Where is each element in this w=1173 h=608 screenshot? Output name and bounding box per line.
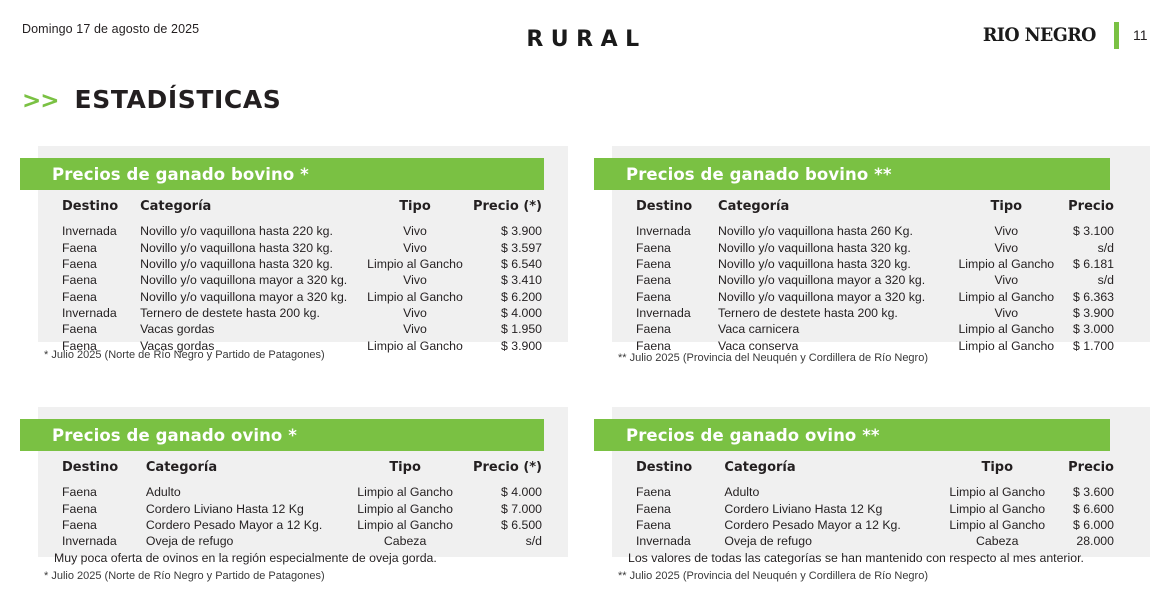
column-header-precio: Precio (*): [460, 457, 562, 484]
cell-categoria: Novillo y/o vaquillona hasta 320 kg.: [124, 239, 364, 255]
cell-categoria: Cordero Pesado Mayor a 12 Kg.: [708, 517, 939, 533]
cell-tipo: Cabeza: [940, 533, 1055, 549]
column-header-destino: Destino: [38, 457, 130, 484]
cell-categoria: Ternero de destete hasta 200 kg.: [702, 305, 953, 321]
cell-precio: $ 6.000: [1055, 517, 1134, 533]
cell-destino: Faena: [612, 272, 702, 288]
table-row: FaenaNovillo y/o vaquillona hasta 320 kg…: [38, 256, 562, 272]
table-title-bar-ovino-1: Precios de ganado ovino *: [20, 419, 544, 451]
cell-tipo: Limpio al Gancho: [364, 256, 467, 272]
column-header-tipo: Tipo: [364, 196, 467, 223]
cell-tipo: Limpio al Gancho: [364, 289, 467, 305]
cell-destino: Faena: [612, 239, 702, 255]
cell-categoria: Novillo y/o vaquillona hasta 260 Kg.: [702, 223, 953, 239]
table-row: FaenaNovillo y/o vaquillona hasta 320 kg…: [38, 239, 562, 255]
table-note: Muy poca oferta de ovinos en la región e…: [38, 550, 562, 566]
table-row: FaenaNovillo y/o vaquillona mayor a 320 …: [38, 272, 562, 288]
table-header-row: DestinoCategoríaTipoPrecio: [612, 196, 1134, 223]
column-header-categoria: Categoría: [130, 457, 350, 484]
table-row: InvernadaOveja de refugoCabezas/d: [38, 533, 562, 549]
cell-tipo: Vivo: [364, 272, 467, 288]
cell-destino: Invernada: [38, 305, 124, 321]
cell-destino: Faena: [612, 500, 708, 516]
cell-categoria: Vaca carnicera: [702, 321, 953, 337]
cell-categoria: Oveja de refugo: [708, 533, 939, 549]
brand-block: RIO NEGRO 11: [973, 20, 1153, 50]
cell-destino: Faena: [38, 289, 124, 305]
column-header-precio: Precio (*): [466, 196, 562, 223]
cell-precio: $ 3.900: [466, 223, 562, 239]
table-row: FaenaAdultoLimpio al Gancho$ 4.000: [38, 484, 562, 500]
cell-precio: s/d: [460, 533, 562, 549]
table-row: FaenaVaca carniceraLimpio al Gancho$ 3.0…: [612, 321, 1134, 337]
cell-tipo: Limpio al Gancho: [953, 338, 1060, 354]
cell-destino: Faena: [612, 321, 702, 337]
cell-categoria: Novillo y/o vaquillona hasta 320 kg.: [124, 256, 364, 272]
cell-categoria: Ternero de destete hasta 200 kg.: [124, 305, 364, 321]
table-row: FaenaNovillo y/o vaquillona hasta 320 kg…: [612, 256, 1134, 272]
cell-tipo: Vivo: [364, 223, 467, 239]
cell-categoria: Novillo y/o vaquillona mayor a 320 kg.: [702, 272, 953, 288]
cell-tipo: Limpio al Gancho: [940, 517, 1055, 533]
cell-destino: Faena: [612, 484, 708, 500]
cell-categoria: Novillo y/o vaquillona mayor a 320 kg.: [702, 289, 953, 305]
cell-tipo: Vivo: [953, 305, 1060, 321]
cell-categoria: Adulto: [130, 484, 350, 500]
table-row: InvernadaTernero de destete hasta 200 kg…: [38, 305, 562, 321]
table-title-ovino-2: Precios de ganado ovino **: [594, 426, 880, 445]
cell-precio: s/d: [1060, 239, 1134, 255]
page-header: Domingo 17 de agosto de 2025 RURAL RIO N…: [0, 0, 1173, 66]
table-title-ovino-1: Precios de ganado ovino *: [20, 426, 297, 445]
cell-categoria: Novillo y/o vaquillona mayor a 320 kg.: [124, 289, 364, 305]
cell-destino: Faena: [612, 256, 702, 272]
table-footnote-ovino-1: * Julio 2025 (Norte de Río Negro y Parti…: [44, 570, 325, 582]
cell-tipo: Vivo: [953, 272, 1060, 288]
cell-categoria: Cordero Liviano Hasta 12 Kg: [708, 500, 939, 516]
table-title-bovino-1: Precios de ganado bovino *: [20, 165, 309, 184]
column-header-categoria: Categoría: [702, 196, 953, 223]
cell-precio: $ 6.600: [1055, 500, 1134, 516]
column-header-precio: Precio: [1055, 457, 1134, 484]
cell-tipo: Limpio al Gancho: [940, 500, 1055, 516]
table-title-bar-ovino-2: Precios de ganado ovino **: [594, 419, 1110, 451]
column-header-destino: Destino: [612, 457, 708, 484]
cell-precio: $ 6.540: [466, 256, 562, 272]
table-footnote-bovino-2: ** Julio 2025 (Provincia del Neuquén y C…: [618, 352, 928, 364]
cell-destino: Faena: [38, 500, 130, 516]
column-header-tipo: Tipo: [350, 457, 460, 484]
table-note-row: Muy poca oferta de ovinos en la región e…: [38, 550, 562, 566]
cell-tipo: Vivo: [953, 223, 1060, 239]
cell-precio: $ 3.900: [466, 338, 562, 354]
column-header-categoria: Categoría: [124, 196, 364, 223]
page-number: 11: [1133, 27, 1153, 43]
brand-logo: RIO NEGRO: [983, 24, 1096, 46]
column-header-precio: Precio: [1060, 196, 1134, 223]
price-table-bovino-1: DestinoCategoríaTipoPrecio (*)InvernadaN…: [38, 196, 562, 354]
cell-categoria: Oveja de refugo: [130, 533, 350, 549]
cell-tipo: Limpio al Gancho: [350, 484, 460, 500]
column-header-tipo: Tipo: [940, 457, 1055, 484]
cell-destino: Faena: [38, 517, 130, 533]
cell-precio: $ 3.597: [466, 239, 562, 255]
cell-precio: 28.000: [1055, 533, 1134, 549]
cell-categoria: Novillo y/o vaquillona hasta 220 kg.: [124, 223, 364, 239]
cell-tipo: Vivo: [364, 239, 467, 255]
table-row: FaenaCordero Pesado Mayor a 12 Kg.Limpio…: [38, 517, 562, 533]
table-row: FaenaCordero Pesado Mayor a 12 Kg.Limpio…: [612, 517, 1134, 533]
page-title: ESTADÍSTICAS: [75, 85, 282, 114]
cell-tipo: Limpio al Gancho: [350, 517, 460, 533]
cell-destino: Faena: [38, 321, 124, 337]
brand-divider-rule: [1114, 22, 1119, 49]
cell-precio: $ 1.950: [466, 321, 562, 337]
cell-categoria: Novillo y/o vaquillona hasta 320 kg.: [702, 256, 953, 272]
cell-precio: $ 3.600: [1055, 484, 1134, 500]
double-chevron-icon: >>: [22, 88, 59, 114]
cell-destino: Faena: [612, 289, 702, 305]
table-row: InvernadaNovillo y/o vaquillona hasta 26…: [612, 223, 1134, 239]
cell-destino: Invernada: [612, 305, 702, 321]
cell-precio: $ 4.000: [466, 305, 562, 321]
table-title-bar-bovino-2: Precios de ganado bovino **: [594, 158, 1110, 190]
cell-precio: s/d: [1060, 272, 1134, 288]
cell-tipo: Vivo: [364, 305, 467, 321]
cell-tipo: Limpio al Gancho: [350, 500, 460, 516]
table-row: InvernadaTernero de destete hasta 200 kg…: [612, 305, 1134, 321]
cell-destino: Faena: [38, 239, 124, 255]
cell-precio: $ 3.100: [1060, 223, 1134, 239]
cell-destino: Faena: [38, 272, 124, 288]
cell-tipo: Limpio al Gancho: [953, 321, 1060, 337]
cell-precio: $ 7.000: [460, 500, 562, 516]
cell-precio: $ 3.900: [1060, 305, 1134, 321]
table-footnote-ovino-2: ** Julio 2025 (Provincia del Neuquén y C…: [618, 570, 928, 582]
cell-tipo: Cabeza: [350, 533, 460, 549]
table-row: FaenaCordero Liviano Hasta 12 KgLimpio a…: [38, 500, 562, 516]
cell-precio: $ 6.200: [466, 289, 562, 305]
column-header-destino: Destino: [612, 196, 702, 223]
table-row: FaenaNovillo y/o vaquillona hasta 320 kg…: [612, 239, 1134, 255]
table-note-row: Los valores de todas las categorías se h…: [612, 550, 1134, 566]
column-header-tipo: Tipo: [953, 196, 1060, 223]
cell-destino: Invernada: [38, 223, 124, 239]
cell-tipo: Limpio al Gancho: [953, 289, 1060, 305]
cell-destino: Invernada: [612, 223, 702, 239]
table-row: FaenaNovillo y/o vaquillona mayor a 320 …: [38, 289, 562, 305]
cell-precio: $ 6.500: [460, 517, 562, 533]
table-row: FaenaCordero Liviano Hasta 12 KgLimpio a…: [612, 500, 1134, 516]
cell-precio: $ 6.181: [1060, 256, 1134, 272]
cell-categoria: Adulto: [708, 484, 939, 500]
cell-precio: $ 4.000: [460, 484, 562, 500]
cell-tipo: Limpio al Gancho: [364, 338, 467, 354]
cell-tipo: Limpio al Gancho: [953, 256, 1060, 272]
cell-destino: Faena: [38, 256, 124, 272]
cell-destino: Invernada: [612, 533, 708, 549]
cell-categoria: Novillo y/o vaquillona mayor a 320 kg.: [124, 272, 364, 288]
cell-tipo: Limpio al Gancho: [940, 484, 1055, 500]
table-row: InvernadaNovillo y/o vaquillona hasta 22…: [38, 223, 562, 239]
table-title-bovino-2: Precios de ganado bovino **: [594, 165, 892, 184]
column-header-destino: Destino: [38, 196, 124, 223]
column-header-categoria: Categoría: [708, 457, 939, 484]
table-row: FaenaVacas gordasVivo$ 1.950: [38, 321, 562, 337]
table-header-row: DestinoCategoríaTipoPrecio: [612, 457, 1134, 484]
cell-categoria: Cordero Pesado Mayor a 12 Kg.: [130, 517, 350, 533]
cell-precio: $ 3.410: [466, 272, 562, 288]
cell-tipo: Vivo: [364, 321, 467, 337]
table-title-bar-bovino-1: Precios de ganado bovino *: [20, 158, 544, 190]
cell-destino: Invernada: [38, 533, 130, 549]
price-table-ovino-2: DestinoCategoríaTipoPrecioFaenaAdultoLim…: [612, 457, 1134, 566]
table-row: FaenaNovillo y/o vaquillona mayor a 320 …: [612, 272, 1134, 288]
table-row: FaenaAdultoLimpio al Gancho$ 3.600: [612, 484, 1134, 500]
table-row: InvernadaOveja de refugoCabeza28.000: [612, 533, 1134, 549]
cell-categoria: Vacas gordas: [124, 321, 364, 337]
price-table-ovino-1: DestinoCategoríaTipoPrecio (*)FaenaAdult…: [38, 457, 562, 566]
cell-precio: $ 6.363: [1060, 289, 1134, 305]
table-header-row: DestinoCategoríaTipoPrecio (*): [38, 196, 562, 223]
price-table-bovino-2: DestinoCategoríaTipoPrecioInvernadaNovil…: [612, 196, 1134, 354]
table-footnote-bovino-1: * Julio 2025 (Norte de Río Negro y Parti…: [44, 349, 325, 361]
cell-destino: Faena: [38, 484, 130, 500]
cell-tipo: Vivo: [953, 239, 1060, 255]
table-header-row: DestinoCategoríaTipoPrecio (*): [38, 457, 562, 484]
cell-precio: $ 3.000: [1060, 321, 1134, 337]
cell-destino: Faena: [612, 517, 708, 533]
table-note: Los valores de todas las categorías se h…: [612, 550, 1134, 566]
cell-categoria: Cordero Liviano Hasta 12 Kg: [130, 500, 350, 516]
cell-categoria: Novillo y/o vaquillona hasta 320 kg.: [702, 239, 953, 255]
section-title-row: >> ESTADÍSTICAS: [22, 85, 281, 114]
table-row: FaenaNovillo y/o vaquillona mayor a 320 …: [612, 289, 1134, 305]
cell-precio: $ 1.700: [1060, 338, 1134, 354]
